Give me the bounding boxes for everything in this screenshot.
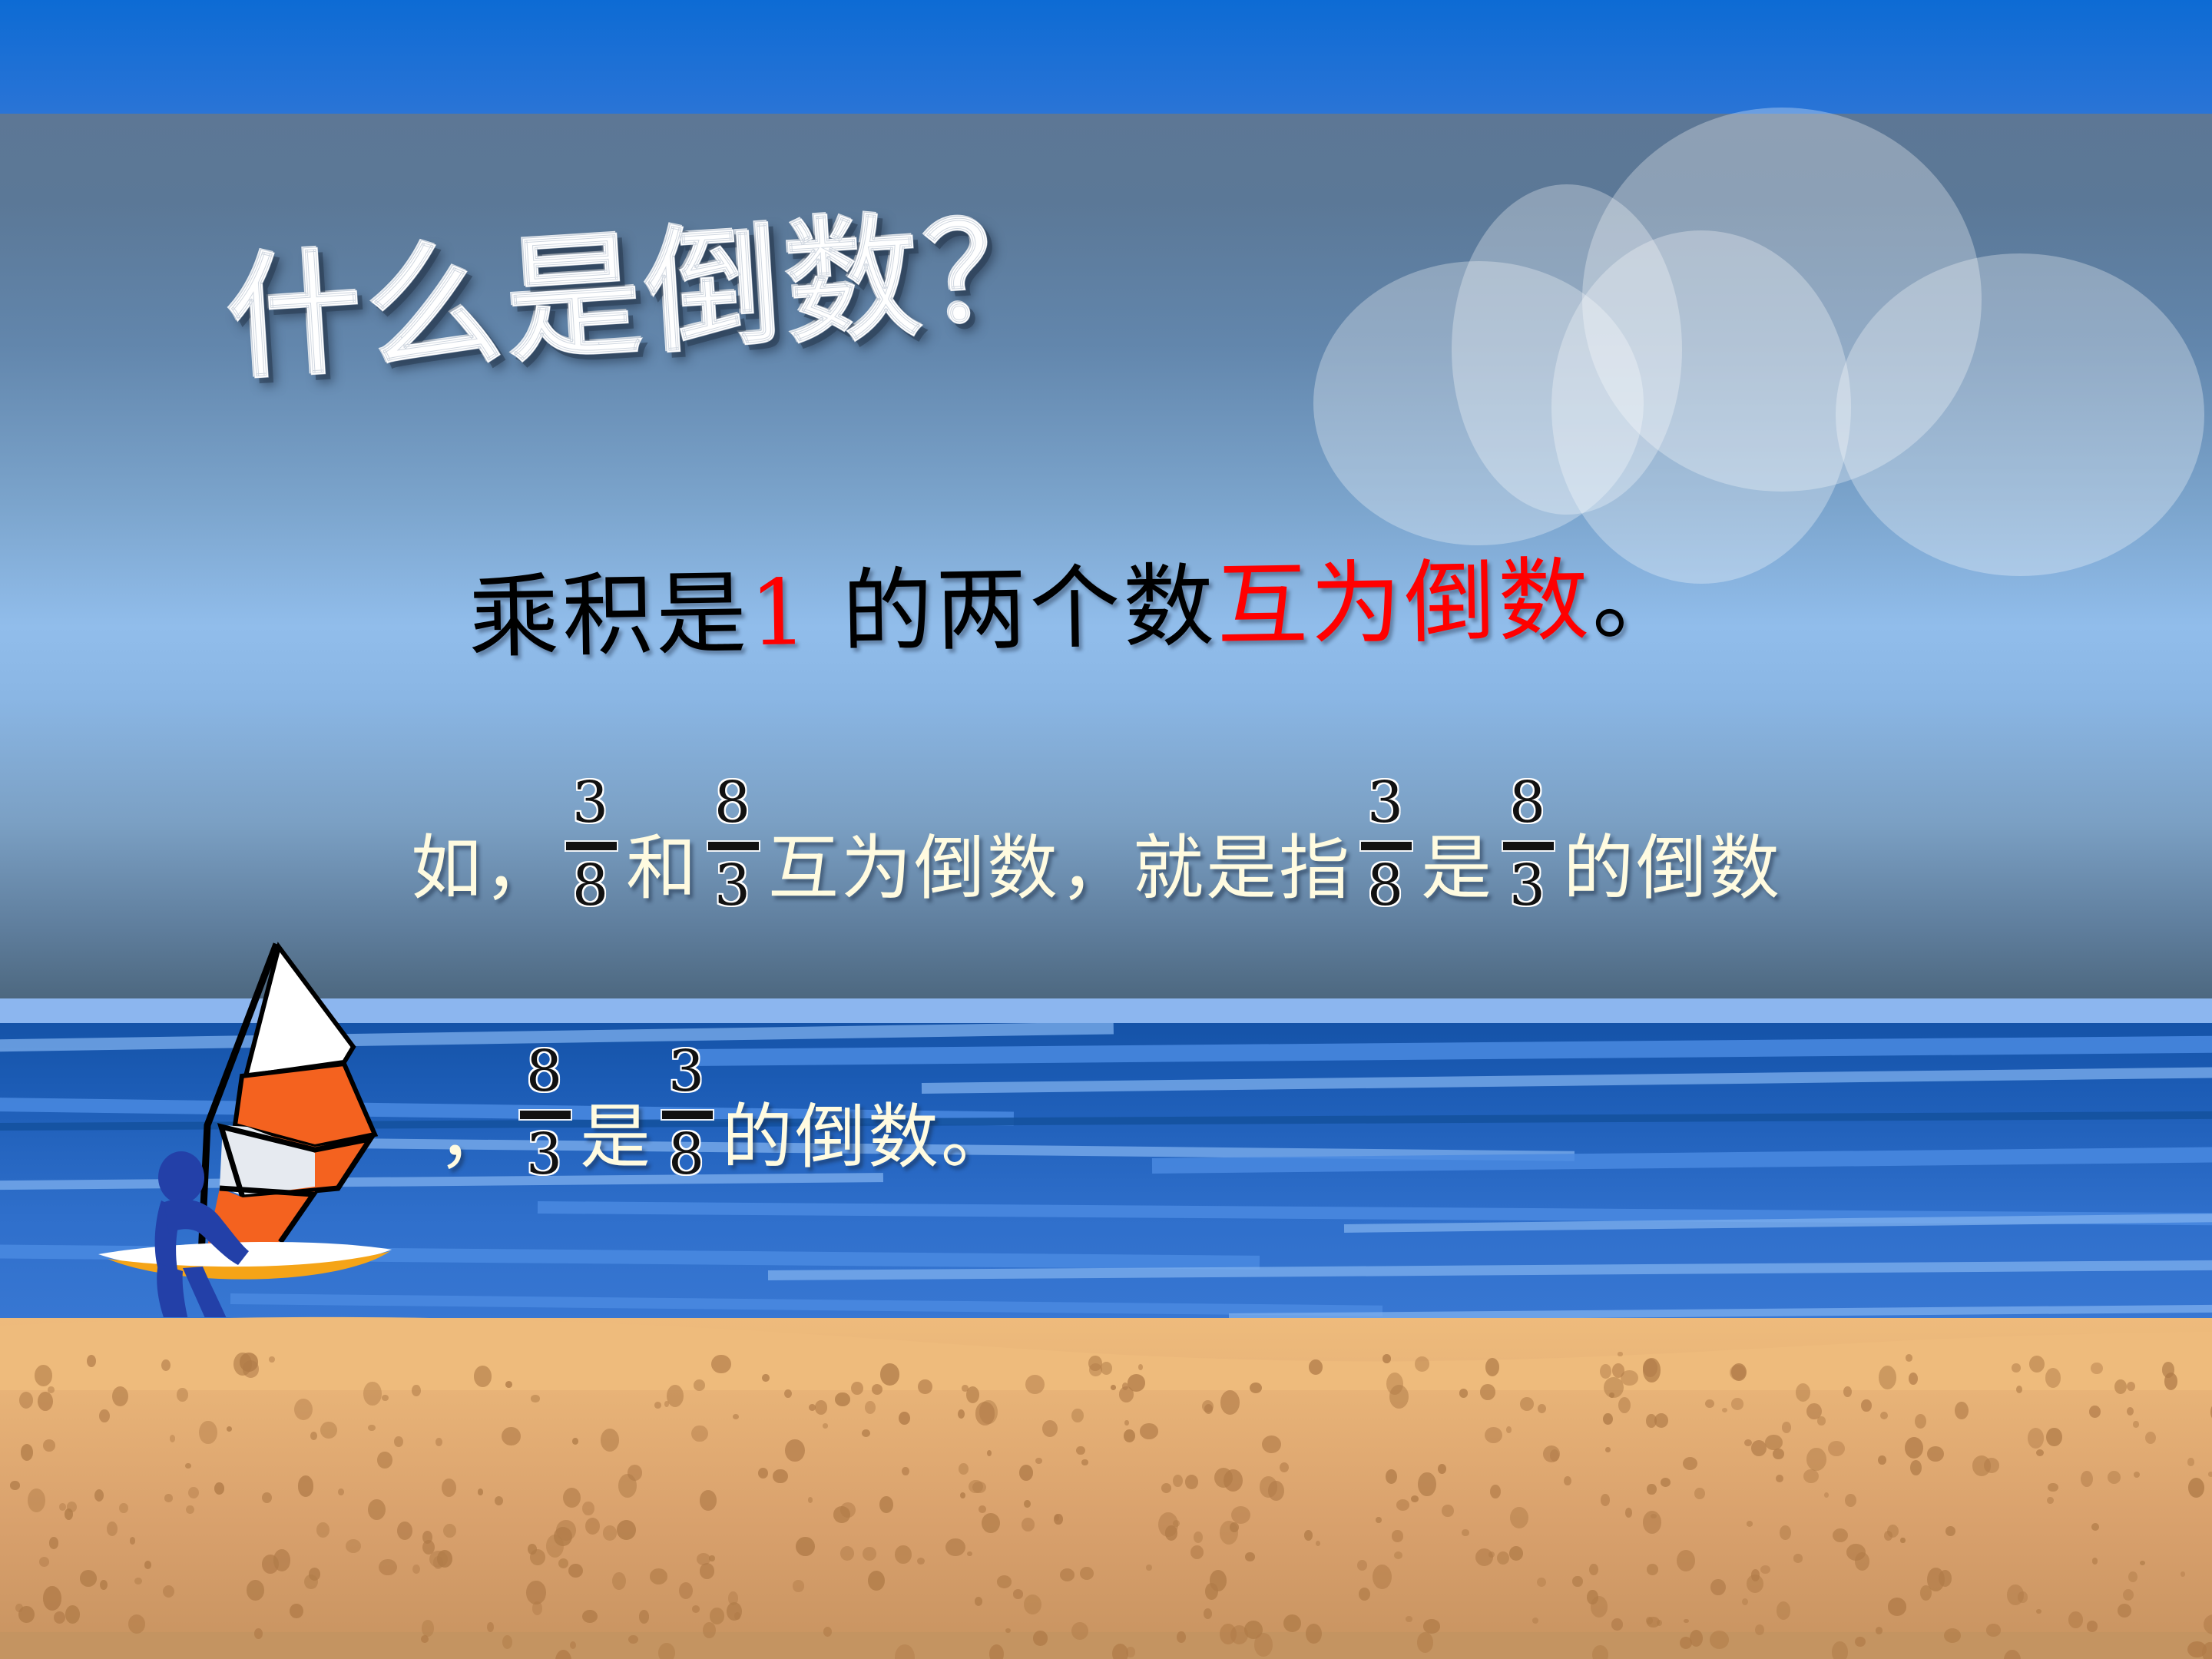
sand-grain-icon	[1684, 1619, 1688, 1623]
example-line-2: ，83是38的倒数。	[438, 1102, 1014, 1178]
sand-grain-icon	[1888, 1598, 1906, 1616]
sand-grain-icon	[733, 1414, 739, 1419]
sand-grain-icon	[1589, 1564, 1598, 1575]
sand-grain-icon	[227, 1426, 232, 1432]
example1-text-2: 和	[626, 827, 699, 909]
sand-grain-icon	[1268, 1481, 1284, 1501]
sand-grain-icon	[65, 1605, 80, 1624]
sand-grain-icon	[99, 1409, 110, 1423]
definition-before: 乘积是	[468, 560, 750, 671]
sand-grain-icon	[247, 1580, 264, 1600]
sand-grain-icon	[650, 1568, 668, 1584]
sand-grain-icon	[1657, 1620, 1662, 1626]
sand-grain-icon	[316, 1522, 329, 1538]
sand-grain-icon	[1625, 1508, 1632, 1517]
sand-grain-icon	[1777, 1601, 1791, 1620]
fraction-3-over-8: 38	[657, 1108, 717, 1178]
sand-grain-icon	[572, 1438, 578, 1444]
sand-grain-icon	[2045, 1368, 2061, 1387]
sand-grain-icon	[959, 1463, 968, 1475]
sand-grain-icon	[734, 1612, 740, 1619]
sand-grain-icon	[1510, 1507, 1528, 1528]
sand-grain-icon	[1480, 1384, 1495, 1399]
sand-grain-icon	[185, 1463, 190, 1469]
windsurfer-icon	[84, 933, 407, 1317]
sand-grain-icon	[1392, 1530, 1402, 1541]
sand-grain-icon	[1564, 1476, 1571, 1485]
sand-grain-icon	[2029, 1356, 2045, 1373]
sand-grain-icon	[1939, 1570, 1952, 1586]
sand-grain-icon	[796, 1537, 815, 1556]
sand-grain-icon	[1618, 1397, 1631, 1413]
sand-grain-icon	[1165, 1525, 1177, 1541]
sand-grain-icon	[412, 1565, 420, 1574]
sand-grain-icon	[618, 1474, 637, 1497]
sand-grain-icon	[558, 1558, 568, 1568]
sand-grain-icon	[1803, 1469, 1819, 1483]
sand-grain-icon	[1910, 1460, 1922, 1475]
sand-grain-icon	[1572, 1576, 1582, 1588]
sand-grain-icon	[2187, 1458, 2194, 1466]
sand-grain-icon	[1283, 1614, 1301, 1632]
sand-grain-icon	[1406, 1616, 1412, 1622]
sand-grain-icon	[1231, 1506, 1250, 1524]
sand-grain-icon	[918, 1379, 932, 1395]
sand-grain-icon	[2188, 1478, 2204, 1498]
fraction-denominator: 8	[561, 857, 621, 914]
sand-grain-icon	[1909, 1373, 1918, 1385]
sand-grain-icon	[1906, 1354, 1912, 1362]
sand-grain-icon	[711, 1355, 731, 1374]
sand-grain-icon	[972, 1482, 985, 1493]
example2-text-3: 的倒数。	[722, 1096, 1014, 1178]
sand-grain-icon	[43, 1586, 61, 1610]
sand-grain-icon	[1417, 1632, 1433, 1652]
cloud-blob-icon	[1836, 253, 2204, 576]
sand-grain-icon	[1025, 1375, 1044, 1394]
fraction-3-over-8: 38	[561, 839, 621, 909]
sand-grain-icon	[603, 1525, 617, 1540]
sand-grain-icon	[1780, 1525, 1790, 1540]
sand-grain-icon	[119, 1503, 127, 1513]
sand-grain-icon	[617, 1520, 636, 1540]
sand-grain-icon	[872, 1384, 882, 1395]
sand-grain-icon	[1601, 1494, 1611, 1506]
sand-grain-icon	[1376, 1517, 1381, 1523]
fraction-bar-icon	[662, 1111, 713, 1119]
sand-grain-icon	[700, 1563, 715, 1579]
sand-grain-icon	[1773, 1449, 1784, 1460]
sand-grain-icon	[28, 1488, 45, 1512]
sand-grain-icon	[1373, 1565, 1392, 1589]
fraction-numerator: 8	[1498, 774, 1558, 831]
sand-grain-icon	[1245, 1552, 1255, 1561]
fraction-denominator: 3	[1498, 857, 1558, 914]
fraction-numerator: 8	[704, 774, 763, 831]
sand-grain-icon	[1042, 1420, 1058, 1437]
sand-grain-icon	[1986, 1624, 2000, 1636]
sand-grain-icon	[880, 1363, 899, 1385]
fraction-denominator: 3	[704, 857, 763, 914]
sand-grain-icon	[1793, 1554, 1803, 1562]
sand-grain-icon	[2087, 1621, 2098, 1632]
sand-grain-icon	[851, 1382, 863, 1395]
sand-grain-icon	[1828, 1441, 1845, 1456]
sand-grain-icon	[1782, 1422, 1791, 1433]
sand-grain-icon	[2128, 1571, 2137, 1582]
sand-grain-icon	[1146, 1565, 1151, 1571]
sand-grain-icon	[2091, 1363, 2103, 1374]
sand-grain-icon	[1506, 1426, 1512, 1433]
sand-grain-icon	[1945, 1526, 1955, 1536]
definition-emphasis: 互为倒数	[1216, 547, 1592, 659]
sand-grain-icon	[528, 1544, 537, 1555]
sand-grain-icon	[1878, 1455, 1886, 1465]
sand-grain-icon	[694, 1379, 705, 1391]
definition-number: 1	[749, 559, 811, 666]
sand-grain-icon	[170, 1435, 175, 1442]
sand-grain-icon	[254, 1628, 263, 1639]
sand-grain-icon	[1304, 1530, 1313, 1541]
sand-grain-icon	[309, 1568, 320, 1581]
sand-grain-icon	[945, 1538, 965, 1557]
sand-grain-icon	[585, 1518, 600, 1535]
sand-grain-icon	[2114, 1379, 2127, 1394]
sand-grain-icon	[902, 1467, 909, 1475]
sand-grain-icon	[1316, 1541, 1320, 1546]
sand-grain-icon	[2007, 1584, 2023, 1604]
sand-grain-icon	[835, 1392, 849, 1406]
sand-grain-icon	[1661, 1478, 1671, 1487]
sand-grain-icon	[709, 1555, 714, 1561]
sand-grain-icon	[310, 1432, 317, 1440]
example1-text-3: 互为倒数，就是指	[768, 827, 1352, 909]
sand-grain-icon	[1806, 1403, 1821, 1419]
sand-grain-icon	[809, 1404, 815, 1411]
sand-grain-icon	[962, 1385, 969, 1391]
fraction-denominator: 3	[515, 1126, 575, 1183]
sand-grain-icon	[989, 1644, 1004, 1659]
wave-streak	[922, 1067, 2212, 1094]
sand-grain-icon	[1690, 1630, 1703, 1647]
sand-grain-icon	[1651, 1514, 1657, 1519]
sand-grain-icon	[1161, 1483, 1171, 1493]
sand-grain-icon	[1550, 1449, 1559, 1462]
sand-grain-icon	[346, 1539, 361, 1553]
sand-grain-icon	[1887, 1525, 1899, 1538]
sand-grain-icon	[840, 1546, 854, 1560]
sand-grain-icon	[1861, 1399, 1871, 1412]
sand-grain-icon	[38, 1392, 53, 1411]
sand-grain-icon	[1214, 1468, 1233, 1488]
sand-grain-icon	[862, 1429, 869, 1437]
sand-grain-icon	[1984, 1458, 1999, 1472]
sand-grain-icon	[1055, 1515, 1059, 1521]
fraction-8-over-3: 83	[1498, 839, 1558, 909]
example1-text-4: 是	[1421, 827, 1494, 909]
sand-grain-icon	[1220, 1390, 1240, 1415]
sand-grain-icon	[1254, 1633, 1273, 1657]
sand-grain-icon	[1532, 1618, 1538, 1624]
sand-grain-icon	[421, 1635, 429, 1643]
fraction-bar-icon	[1361, 842, 1412, 850]
sand-grain-icon	[531, 1395, 539, 1402]
fraction-bar-icon	[566, 842, 617, 850]
sand-grain-icon	[379, 1559, 397, 1576]
sand-grain-icon	[582, 1610, 598, 1623]
fraction-3-over-8: 38	[1356, 839, 1416, 909]
sand-grain-icon	[1088, 1356, 1102, 1371]
sand-grain-icon	[773, 1469, 787, 1484]
sand-grain-icon	[1022, 1518, 1035, 1531]
sand-grain-icon	[979, 1505, 986, 1513]
sand-grain-icon	[2127, 1407, 2134, 1416]
sand-grain-icon	[1382, 1354, 1391, 1363]
sand-grain-icon	[1306, 1624, 1322, 1644]
sand-grain-icon	[1879, 1366, 1896, 1389]
sand-grain-icon	[1611, 1618, 1624, 1631]
sand-grain-icon	[654, 1402, 661, 1409]
sand-grain-icon	[710, 1608, 724, 1624]
sand-grain-icon	[1722, 1408, 1727, 1412]
sand-grain-icon	[1076, 1446, 1084, 1455]
sand-grain-icon	[1806, 1448, 1826, 1470]
sand-grain-icon	[2208, 1472, 2212, 1476]
sand-grain-icon	[762, 1374, 769, 1382]
sand-grain-icon	[382, 1395, 389, 1401]
sand-grain-icon	[412, 1385, 420, 1396]
sand-grain-icon	[679, 1582, 693, 1600]
sand-grain-icon	[1438, 1464, 1446, 1474]
sand-grain-icon	[532, 1601, 543, 1614]
example1-text-1: 如，	[411, 827, 557, 909]
sand-grain-icon	[785, 1439, 804, 1462]
sand-grain-icon	[2048, 1483, 2058, 1492]
sand-grain-icon	[2092, 1558, 2098, 1564]
definition-line: 乘积是1 的两个数互为倒数。	[468, 553, 1686, 663]
sand-grain-icon	[144, 1561, 151, 1569]
sand-grain-icon	[1309, 1359, 1323, 1375]
sand-grain-icon	[164, 1494, 172, 1502]
sand-grain-icon	[1618, 1352, 1622, 1356]
sand-grain-icon	[1111, 1385, 1116, 1389]
sand-grain-icon	[1423, 1619, 1439, 1633]
sand-grain-icon	[186, 1505, 194, 1514]
fraction-8-over-3: 83	[515, 1108, 575, 1178]
sand-grain-icon	[112, 1386, 128, 1406]
fraction-numerator: 3	[657, 1043, 717, 1100]
sand-grain-icon	[1520, 1397, 1534, 1411]
sand-grain-icon	[975, 1402, 995, 1425]
sand-grain-icon	[273, 1549, 290, 1571]
sand-grain-icon	[502, 1427, 520, 1445]
sand-grain-icon	[982, 1513, 1000, 1533]
definition-middle: 的两个数	[810, 553, 1218, 665]
sand-grain-icon	[1880, 1412, 1888, 1419]
sand-grain-icon	[1185, 1475, 1198, 1489]
sand-grain-icon	[435, 1438, 442, 1447]
sand-grain-icon	[1124, 1420, 1129, 1426]
sand-grain-icon	[10, 1481, 20, 1489]
sand-grain-icon	[1710, 1631, 1729, 1649]
sand-grain-icon	[39, 1557, 49, 1567]
sand-grain-icon	[1220, 1521, 1238, 1544]
sand-grain-icon	[377, 1452, 392, 1469]
sand-grain-icon	[1832, 1641, 1848, 1659]
sand-grain-icon	[443, 1524, 456, 1538]
sand-grain-icon	[1202, 1400, 1214, 1412]
sand-grain-icon	[691, 1426, 707, 1442]
sand-grain-icon	[1817, 1416, 1826, 1425]
sand-grain-icon	[582, 1502, 594, 1515]
sand-grain-icon	[1280, 1462, 1289, 1472]
fraction-numerator: 3	[561, 774, 621, 831]
sand-grain-icon	[1760, 1565, 1770, 1574]
sand-grain-icon	[2068, 1611, 2084, 1628]
sand-grain-icon	[1843, 1386, 1852, 1397]
sand-grain-icon	[815, 1400, 828, 1415]
example-line-1: 如，38和83互为倒数，就是指38是83的倒数	[411, 833, 1782, 909]
sand-grain-icon	[1855, 1637, 1866, 1647]
sand-grain-icon	[1415, 1356, 1429, 1372]
sand-grain-icon	[1080, 1567, 1094, 1580]
sand-grain-icon	[478, 1488, 483, 1495]
fraction-8-over-3: 83	[704, 839, 763, 909]
fraction-bar-icon	[520, 1111, 571, 1119]
sand-grain-icon	[422, 1620, 435, 1637]
sand-grain-icon	[865, 1401, 876, 1414]
fraction-denominator: 8	[1356, 857, 1416, 914]
fraction-denominator: 8	[657, 1126, 717, 1183]
sand-grain-icon	[177, 1388, 187, 1402]
sand-grain-icon	[1035, 1458, 1041, 1464]
example2-text-1: ，	[438, 1096, 511, 1178]
sand-grain-icon	[1605, 1447, 1611, 1452]
sand-grain-icon	[1600, 1364, 1611, 1379]
sand-grain-icon	[502, 1635, 512, 1649]
sand-grain-icon	[1955, 1402, 1969, 1420]
sand-grain-icon	[2089, 1406, 2100, 1418]
sand-grain-icon	[1081, 1459, 1088, 1465]
sand-grain-icon	[1060, 1568, 1075, 1581]
sand-grain-icon	[563, 1488, 581, 1508]
sand-grain-icon	[43, 1439, 55, 1451]
sand-grain-icon	[1621, 1370, 1637, 1386]
sand-grain-icon	[568, 1564, 583, 1578]
sand-grain-icon	[1418, 1472, 1435, 1496]
sand-grain-icon	[1071, 1409, 1084, 1422]
fraction-numerator: 8	[515, 1043, 575, 1100]
sand-grain-icon	[1173, 1475, 1183, 1487]
fraction-numerator: 3	[1356, 774, 1416, 831]
sand-grain-icon	[21, 1444, 33, 1460]
sand-grain-icon	[793, 1580, 805, 1591]
sand-grain-icon	[1124, 1429, 1135, 1442]
sand-grain-icon	[1537, 1578, 1546, 1587]
sand-grain-icon	[1220, 1624, 1236, 1644]
sand-grain-icon	[1694, 1488, 1705, 1499]
sand-grain-icon	[556, 1520, 576, 1541]
sand-grain-icon	[526, 1581, 545, 1604]
sand-grain-icon	[1485, 1427, 1502, 1443]
sand-grain-icon	[199, 1421, 217, 1445]
sand-grain-icon	[368, 1425, 376, 1432]
example1-text-5: 的倒数	[1563, 827, 1782, 909]
sand-grain-icon	[1459, 1389, 1469, 1398]
sand-grain-icon	[1920, 1585, 1932, 1601]
example2-text-2: 是	[580, 1096, 653, 1178]
sand-grain-icon	[1900, 1538, 1905, 1544]
sand-grain-icon	[1140, 1423, 1158, 1439]
sand-grain-icon	[1647, 1484, 1656, 1495]
sand-grain-icon	[2047, 1497, 2054, 1504]
sand-grain-icon	[1386, 1373, 1403, 1395]
definition-period: 。	[1591, 545, 1686, 653]
sand-grain-icon	[2140, 1561, 2145, 1565]
sand-grain-icon	[1024, 1594, 1041, 1614]
wave-streak	[691, 1035, 2212, 1066]
sand-grain-icon	[1475, 1548, 1493, 1566]
sand-grain-icon	[298, 1475, 314, 1497]
sand-grain-icon	[863, 1547, 877, 1561]
sand-grain-icon	[2202, 1642, 2212, 1659]
fraction-bar-icon	[1503, 842, 1554, 850]
sand-grain-icon	[214, 1482, 224, 1495]
sand-grain-icon	[703, 1622, 715, 1638]
sand-grain-icon	[895, 1545, 911, 1564]
sand-grain-icon	[667, 1385, 684, 1407]
sand-grain-icon	[54, 1611, 65, 1624]
sand-grain-icon	[1647, 1564, 1658, 1575]
sand-grain-icon	[2164, 1373, 2178, 1390]
sand-grain-icon	[394, 1436, 403, 1447]
slide-canvas: 什么是倒数？ 乘积是1 的两个数互为倒数。 如，38和83互为倒数，就是指38是…	[0, 0, 2212, 1659]
sand-grain-icon	[368, 1499, 386, 1520]
sand-grain-icon	[2046, 1428, 2061, 1446]
sand-grain-icon	[1927, 1446, 1944, 1462]
sand-grain-icon	[1386, 1469, 1397, 1484]
sand-grain-icon	[975, 1597, 983, 1605]
sand-grain-icon	[700, 1490, 717, 1510]
sand-grain-icon	[1462, 1529, 1469, 1536]
sand-grain-icon	[363, 1382, 381, 1405]
sand-base-band	[0, 1632, 2212, 1659]
sand-grain-icon	[1876, 1627, 1883, 1634]
sand-grain-icon	[1013, 1589, 1023, 1598]
fraction-bar-icon	[708, 842, 759, 850]
sand-grain-icon	[639, 1610, 650, 1624]
sand-grain-icon	[1442, 1505, 1454, 1516]
sand-grain-icon	[2133, 1421, 2139, 1428]
sand-grain-icon	[1833, 1528, 1848, 1542]
sand-grain-icon	[1646, 1414, 1657, 1428]
sand-grain-icon	[1262, 1435, 1281, 1453]
sand-grain-icon	[1485, 1358, 1499, 1376]
sand-grain-icon	[899, 1412, 910, 1425]
sand-grain-icon	[1643, 1359, 1657, 1377]
sand-grain-icon	[658, 1643, 676, 1659]
sand-grain-icon	[2091, 1523, 2099, 1531]
sand-grain-icon	[2036, 1609, 2041, 1614]
sand-grain-icon	[1824, 1492, 1830, 1498]
